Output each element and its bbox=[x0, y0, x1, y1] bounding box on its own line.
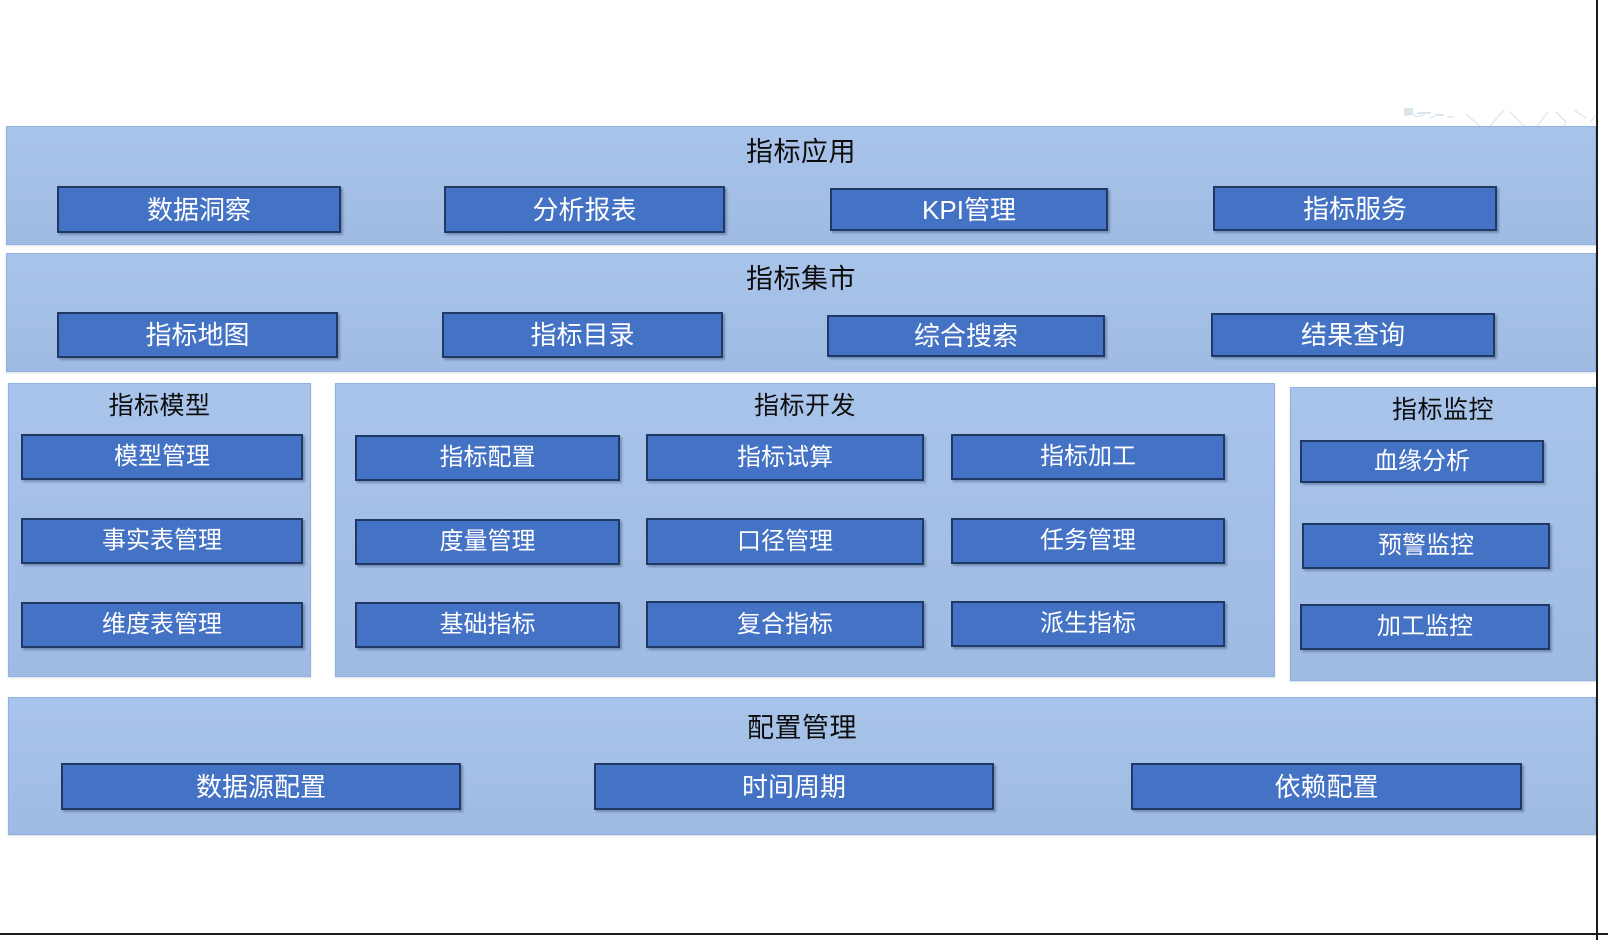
button-comprehensive-search[interactable]: 综合搜索 bbox=[827, 315, 1105, 357]
button-measure-management[interactable]: 度量管理 bbox=[355, 519, 620, 565]
button-indicator-catalog[interactable]: 指标目录 bbox=[442, 312, 723, 358]
button-processing-monitoring[interactable]: 加工监控 bbox=[1300, 604, 1550, 650]
button-basic-indicator[interactable]: 基础指标 bbox=[355, 602, 620, 648]
layer-title-indicator-application: 指标应用 bbox=[7, 137, 1595, 167]
button-time-period[interactable]: 时间周期 bbox=[594, 763, 994, 810]
button-indicator-map[interactable]: 指标地图 bbox=[57, 312, 338, 358]
button-caliber-management[interactable]: 口径管理 bbox=[646, 518, 924, 565]
button-datasource-configuration[interactable]: 数据源配置 bbox=[61, 763, 461, 810]
button-indicator-service[interactable]: 指标服务 bbox=[1213, 186, 1497, 231]
button-indicator-trial-calculation[interactable]: 指标试算 bbox=[646, 434, 924, 481]
button-dimension-table-management[interactable]: 维度表管理 bbox=[21, 602, 303, 648]
button-fact-table-management[interactable]: 事实表管理 bbox=[21, 518, 303, 564]
diagram-canvas: 指标应用 数据洞察 分析报表 KPI管理 指标服务 指标集市 指标地图 指标目录… bbox=[0, 0, 1608, 940]
layer-title-indicator-development: 指标开发 bbox=[336, 392, 1274, 420]
button-derived-indicator[interactable]: 派生指标 bbox=[951, 601, 1225, 647]
layer-title-configuration-management: 配置管理 bbox=[9, 713, 1595, 743]
page-edge-right bbox=[1596, 0, 1598, 940]
button-composite-indicator[interactable]: 复合指标 bbox=[646, 601, 924, 648]
button-indicator-configuration[interactable]: 指标配置 bbox=[355, 435, 620, 481]
button-dependency-configuration[interactable]: 依赖配置 bbox=[1131, 763, 1522, 810]
button-analysis-report[interactable]: 分析报表 bbox=[444, 186, 725, 233]
button-result-query[interactable]: 结果查询 bbox=[1211, 313, 1495, 357]
button-indicator-processing[interactable]: 指标加工 bbox=[951, 434, 1225, 480]
layer-title-indicator-monitoring: 指标监控 bbox=[1291, 396, 1595, 424]
button-kpi-management[interactable]: KPI管理 bbox=[830, 188, 1108, 231]
layer-title-indicator-model: 指标模型 bbox=[9, 392, 310, 420]
layer-title-indicator-marketplace: 指标集市 bbox=[7, 264, 1595, 294]
button-model-management[interactable]: 模型管理 bbox=[21, 434, 303, 480]
button-lineage-analysis[interactable]: 血缘分析 bbox=[1300, 440, 1544, 483]
button-task-management[interactable]: 任务管理 bbox=[951, 518, 1225, 564]
page-edge-bottom bbox=[0, 933, 1608, 935]
button-alert-monitoring[interactable]: 预警监控 bbox=[1302, 523, 1550, 569]
button-data-insight[interactable]: 数据洞察 bbox=[57, 186, 341, 233]
